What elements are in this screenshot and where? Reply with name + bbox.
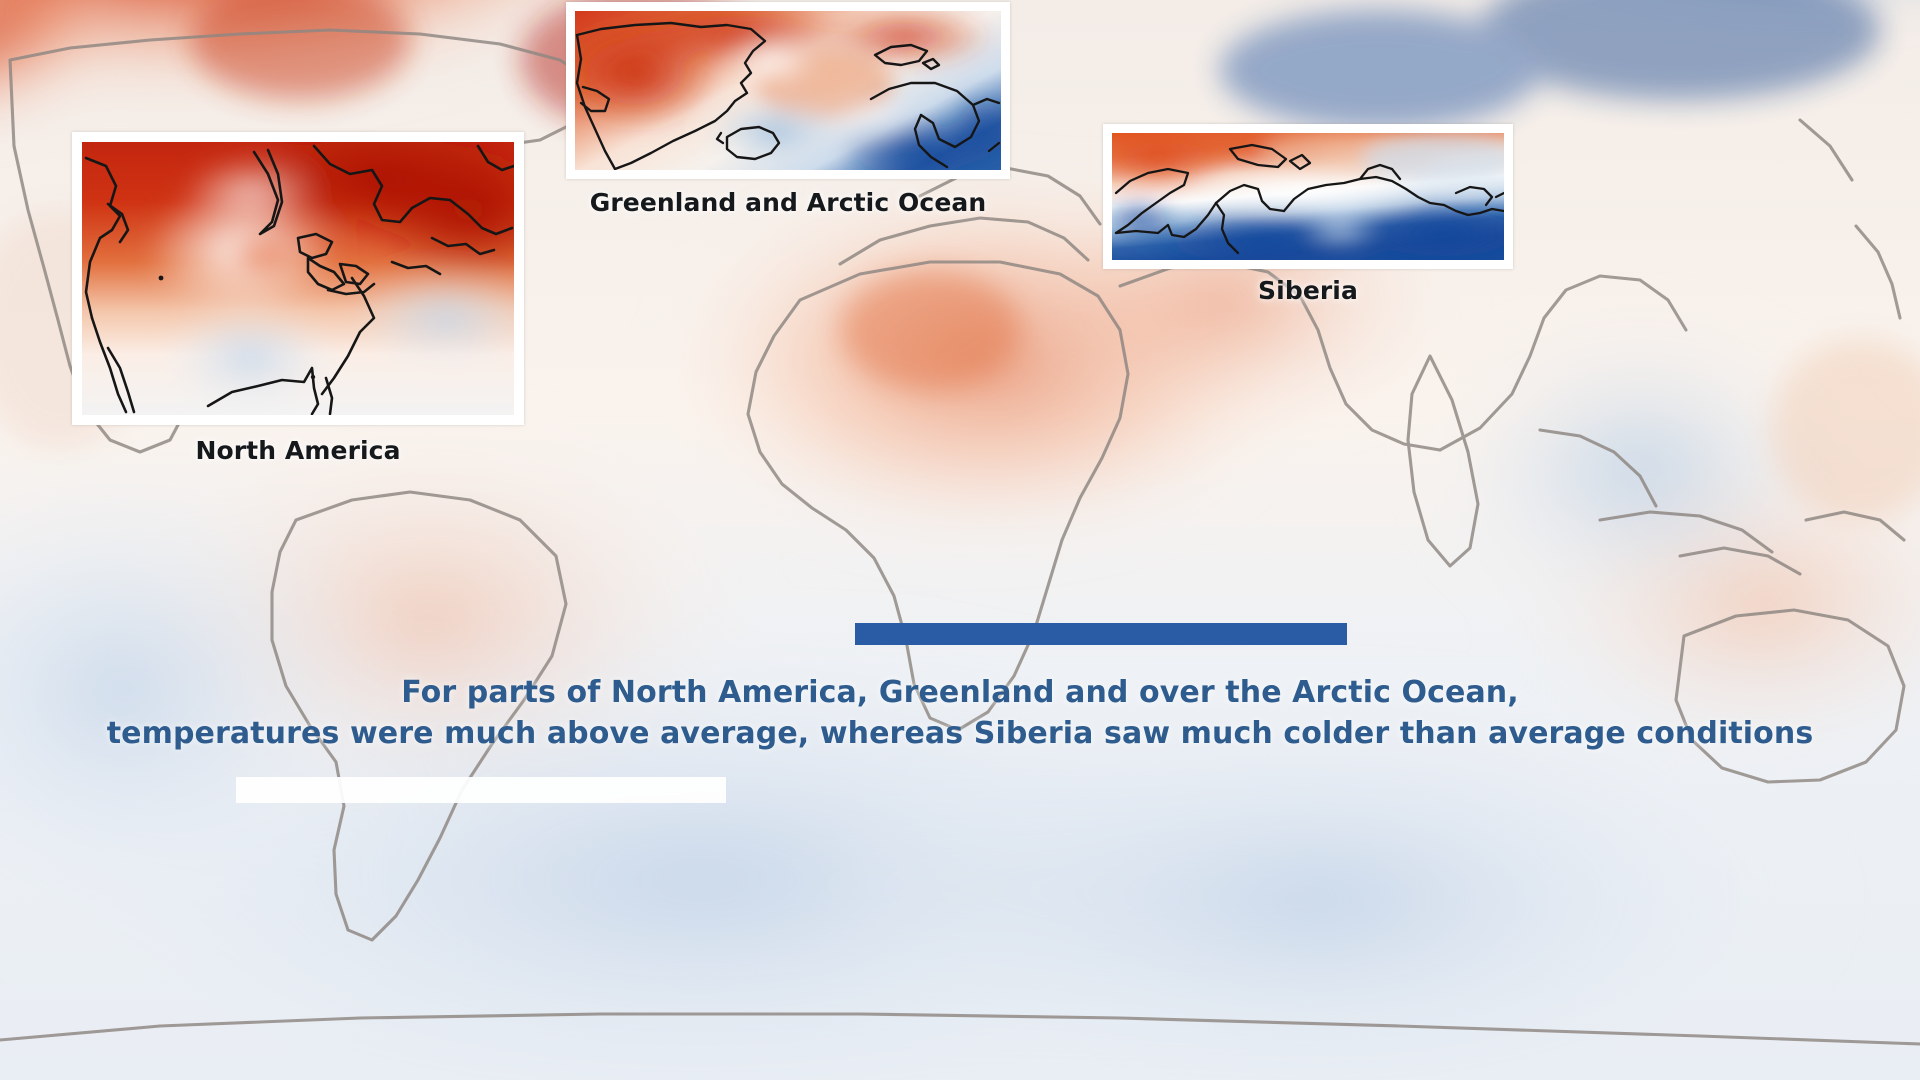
inset-label-siberia: Siberia — [1103, 276, 1513, 305]
inset-panel-siberia[interactable] — [1103, 124, 1513, 269]
main-caption: For parts of North America, Greenland an… — [0, 672, 1920, 754]
inset-label-north-america: North America — [72, 436, 524, 465]
infographic-canvas: North America — [0, 0, 1920, 1080]
inset-panel-north-america[interactable] — [72, 132, 524, 425]
inset-map-siberia — [1112, 133, 1504, 260]
caption-line-1: For parts of North America, Greenland an… — [0, 672, 1920, 713]
white-divider-bar — [236, 777, 726, 803]
inset-label-greenland-arctic: Greenland and Arctic Ocean — [566, 188, 1010, 217]
inset-map-greenland-arctic — [575, 11, 1001, 170]
inset-panel-greenland-arctic[interactable] — [566, 2, 1010, 179]
accent-divider-bar — [855, 623, 1347, 645]
caption-line-2: temperatures were much above average, wh… — [0, 713, 1920, 754]
inset-map-north-america — [82, 142, 514, 415]
